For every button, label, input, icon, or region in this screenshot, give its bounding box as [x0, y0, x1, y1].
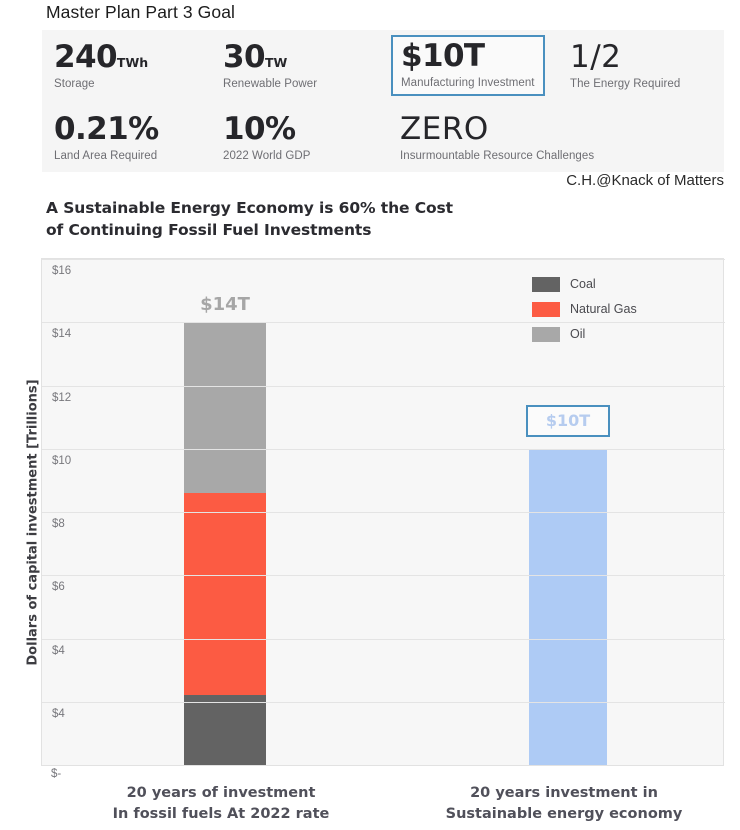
- stat-number: ZERO: [400, 111, 489, 147]
- stat-cell-renewable-power: 30TW Renewable Power: [223, 42, 317, 90]
- bar-sustainable-energy[interactable]: [529, 449, 607, 765]
- y-axis-tick-label: $4: [52, 708, 65, 720]
- gridline: [42, 639, 725, 640]
- y-axis-tick-label: $4: [52, 645, 65, 657]
- legend-swatch-icon: [532, 302, 560, 317]
- stat-value: 30TW: [223, 42, 317, 73]
- stat-cell-energy-required: 1/2 The Energy Required: [570, 42, 680, 90]
- chart-title-line-1: A Sustainable Energy Economy is 60% the …: [46, 197, 453, 219]
- x-axis-label-fossil-line-1: 20 years of investment: [73, 783, 369, 804]
- stat-value: 0.21%: [54, 114, 159, 145]
- stat-number: $10T: [401, 38, 484, 74]
- stat-label: Renewable Power: [223, 78, 317, 90]
- y-axis-tick-label: $10: [52, 455, 71, 467]
- bar-label-fossil-total: $14T: [184, 294, 266, 315]
- legend-item-natural-gas[interactable]: Natural Gas: [532, 298, 637, 320]
- stat-label: Manufacturing Investment: [401, 77, 535, 89]
- stat-label: Land Area Required: [54, 150, 159, 162]
- y-axis-tick-label: $14: [52, 328, 71, 340]
- infographic-page: Master Plan Part 3 Goal 240TWh Storage 3…: [0, 0, 740, 830]
- y-axis-tick-label: $8: [52, 518, 65, 530]
- stat-cell-manufacturing-investment-highlighted: $10T Manufacturing Investment: [391, 35, 545, 96]
- x-axis-label-sustainable: 20 years investment in Sustainable energ…: [404, 783, 724, 824]
- stat-value: 10%: [223, 114, 310, 145]
- legend-item-oil[interactable]: Oil: [532, 323, 637, 345]
- legend-label: Oil: [570, 327, 585, 341]
- y-axis-tick-label: $6: [52, 581, 65, 593]
- x-axis-label-fossil: 20 years of investment In fossil fuels A…: [73, 783, 369, 824]
- stat-number: 240: [54, 39, 117, 75]
- stat-label: The Energy Required: [570, 78, 680, 90]
- bar-label-sustainable-total: $10T: [526, 405, 610, 437]
- bar-segment-oil[interactable]: [184, 322, 266, 493]
- stat-value: 1/2: [570, 42, 680, 73]
- stat-number: 1/2: [570, 39, 621, 75]
- stat-cell-storage: 240TWh Storage: [54, 42, 148, 90]
- stat-number: 10%: [223, 111, 295, 147]
- stat-label: Insurmountable Resource Challenges: [400, 150, 594, 162]
- gridline: [42, 449, 725, 450]
- page-title: Master Plan Part 3 Goal: [46, 2, 235, 23]
- bar-fossil-fuels[interactable]: [184, 322, 266, 765]
- stat-number: 30: [223, 39, 265, 75]
- chart-title-line-2: of Continuing Fossil Fuel Investments: [46, 219, 453, 241]
- stat-value: $10T: [401, 41, 535, 72]
- gridline: [42, 702, 725, 703]
- gridline: [42, 575, 725, 576]
- legend-item-coal[interactable]: Coal: [532, 273, 637, 295]
- gridline: [42, 386, 725, 387]
- gridline: [42, 512, 725, 513]
- stat-unit: TWh: [117, 55, 148, 70]
- stat-label: 2022 World GDP: [223, 150, 310, 162]
- stat-label: Storage: [54, 78, 148, 90]
- watermark-credit: C.H.@Knack of Matters: [566, 172, 724, 189]
- plot-area: $14T $10T CoalNatural GasOil $16$14$12$1…: [42, 259, 725, 765]
- chart-panel: $14T $10T CoalNatural GasOil $16$14$12$1…: [41, 258, 724, 766]
- stat-unit: TW: [265, 55, 287, 70]
- stat-value: ZERO: [400, 114, 594, 145]
- stat-cell-world-gdp: 10% 2022 World GDP: [223, 114, 310, 162]
- y-axis-tick-label: $12: [52, 392, 71, 404]
- gridline: [42, 322, 725, 323]
- bar-segment-natural-gas[interactable]: [184, 493, 266, 695]
- chart-legend: CoalNatural GasOil: [532, 273, 637, 348]
- y-axis-zero-label: $-: [51, 768, 61, 780]
- gridline: [42, 259, 725, 260]
- legend-label: Natural Gas: [570, 302, 637, 316]
- legend-swatch-icon: [532, 327, 560, 342]
- y-axis-tick-label: $16: [52, 265, 71, 277]
- y-axis-title: Dollars of capital investment [Trillions…: [26, 363, 41, 683]
- x-axis-label-fossil-line-2: In fossil fuels At 2022 rate: [73, 804, 369, 825]
- stat-cell-land-area: 0.21% Land Area Required: [54, 114, 159, 162]
- legend-swatch-icon: [532, 277, 560, 292]
- bar-segment-sustainable[interactable]: [529, 449, 607, 765]
- stat-cell-zero-challenges: ZERO Insurmountable Resource Challenges: [400, 114, 594, 162]
- stat-number: 0.21%: [54, 111, 159, 147]
- legend-label: Coal: [570, 277, 596, 291]
- bar-segment-coal[interactable]: [184, 695, 266, 765]
- x-axis-label-sustainable-line-2: Sustainable energy economy: [404, 804, 724, 825]
- chart-title: A Sustainable Energy Economy is 60% the …: [46, 197, 453, 242]
- stats-panel: 240TWh Storage 30TW Renewable Power $10T…: [42, 30, 724, 172]
- stat-value: 240TWh: [54, 42, 148, 73]
- x-axis-label-sustainable-line-1: 20 years investment in: [404, 783, 724, 804]
